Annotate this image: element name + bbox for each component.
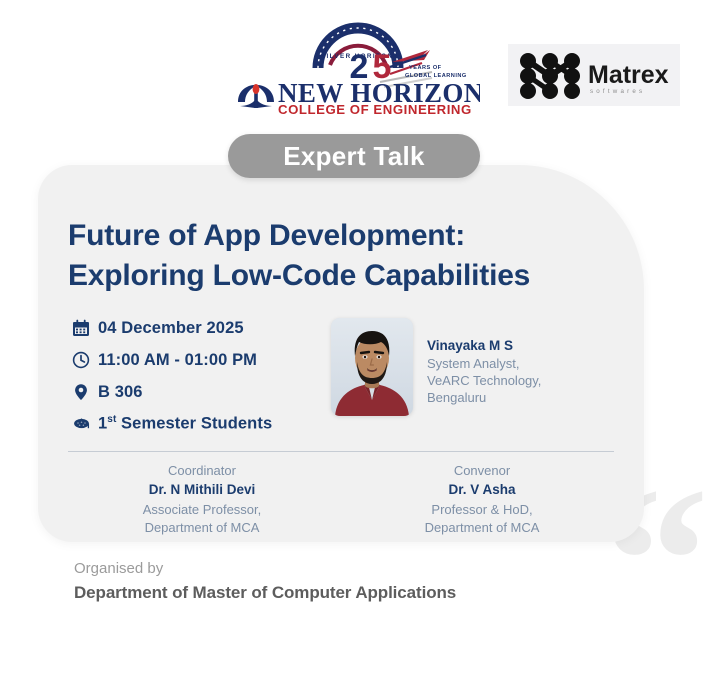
- page-title-line-2: Exploring Low-Code Capabilities: [68, 256, 648, 296]
- sponsor-logo: Matrex softwares: [508, 44, 680, 106]
- detail-row-audience: 1st Semester Students: [72, 409, 332, 439]
- organised-by-block: Organised by Department of Master of Com…: [74, 558, 456, 605]
- detail-audience-suffix: st: [107, 414, 116, 425]
- svg-text:YEARS OF: YEARS OF: [409, 65, 442, 71]
- organisers-row: Coordinator Dr. N Mithili Devi Associate…: [62, 462, 622, 538]
- coordinator-department: Department of MCA: [62, 519, 342, 537]
- detail-row-time: 11:00 AM - 01:00 PM: [72, 345, 332, 375]
- svg-text:Matrex: Matrex: [588, 61, 669, 89]
- speaker-name: Vinayaka M S: [427, 338, 541, 353]
- organiser-coordinator: Coordinator Dr. N Mithili Devi Associate…: [62, 462, 342, 538]
- detail-audience-text: 1st Semester Students: [98, 414, 272, 434]
- graduation-cap-icon: [72, 415, 98, 433]
- speaker-photo: [331, 318, 413, 416]
- svg-text:softwares: softwares: [590, 88, 645, 95]
- coordinator-name: Dr. N Mithili Devi: [62, 480, 342, 500]
- calendar-icon: [72, 319, 98, 337]
- sponsor-logo-svg: Matrex softwares: [514, 48, 674, 102]
- section-divider: [68, 451, 614, 452]
- svg-text:COLLEGE OF ENGINEERING: COLLEGE OF ENGINEERING: [278, 102, 472, 116]
- speaker-role: System Analyst,: [427, 355, 541, 372]
- expert-talk-badge: Expert Talk: [228, 134, 480, 178]
- location-pin-icon: [72, 383, 98, 401]
- detail-date-text: 04 December 2025: [98, 319, 244, 338]
- event-details-list: 04 December 2025 11:00 AM - 01:00 PM B 3…: [72, 313, 332, 441]
- speaker-company: VeARC Technology,: [427, 372, 541, 389]
- speaker-portrait-svg: [331, 318, 413, 416]
- speaker-city: Bengaluru: [427, 389, 541, 406]
- clock-icon: [72, 351, 98, 369]
- organised-by-department: Department of Master of Computer Applica…: [74, 580, 456, 606]
- organiser-convenor: Convenor Dr. V Asha Professor & HoD, Dep…: [342, 462, 622, 538]
- convenor-department: Department of MCA: [342, 519, 622, 537]
- coordinator-role-label: Coordinator: [62, 462, 342, 480]
- coordinator-designation: Associate Professor,: [62, 501, 342, 519]
- detail-venue-text: B 306: [98, 383, 143, 402]
- page-title: Future of App Development: Exploring Low…: [68, 216, 648, 295]
- speaker-info: Vinayaka M S System Analyst, VeARC Techn…: [427, 318, 541, 406]
- expert-talk-badge-label: Expert Talk: [283, 141, 425, 172]
- header: SILVER HORIZONS 2 5 YEARS OF GLOBAL LEAR…: [0, 0, 705, 128]
- convenor-role-label: Convenor: [342, 462, 622, 480]
- convenor-designation: Professor & HoD,: [342, 501, 622, 519]
- detail-audience-ordinal: 1: [98, 415, 107, 433]
- college-logo-svg: SILVER HORIZONS 2 5 YEARS OF GLOBAL LEAR…: [232, 22, 480, 116]
- speaker-block: Vinayaka M S System Analyst, VeARC Techn…: [331, 318, 541, 416]
- convenor-name: Dr. V Asha: [342, 480, 622, 500]
- college-logo: SILVER HORIZONS 2 5 YEARS OF GLOBAL LEAR…: [232, 22, 480, 116]
- page-title-line-1: Future of App Development:: [68, 216, 648, 256]
- organised-by-label: Organised by: [74, 558, 456, 580]
- detail-time-text: 11:00 AM - 01:00 PM: [98, 351, 257, 370]
- detail-audience-rest: Semester Students: [116, 415, 272, 433]
- detail-row-date: 04 December 2025: [72, 313, 332, 343]
- detail-row-venue: B 306: [72, 377, 332, 407]
